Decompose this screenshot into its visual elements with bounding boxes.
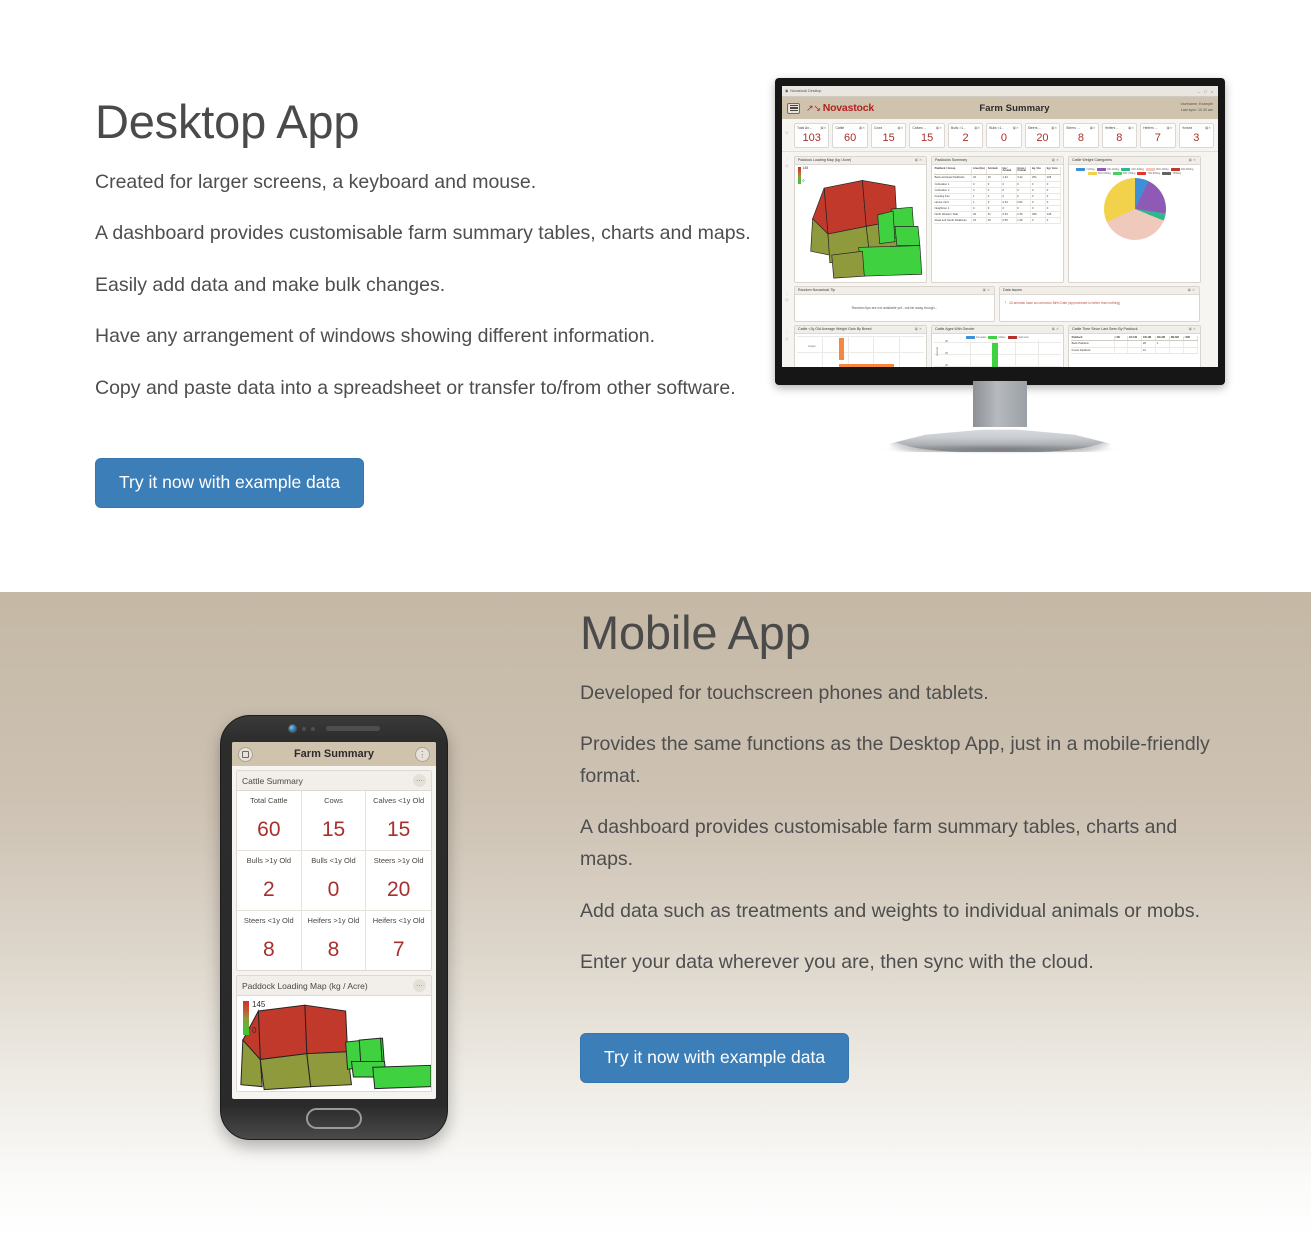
panel-controls-icon[interactable]: ▣✕: [983, 288, 991, 292]
panel-title: Random Novastock Tip: [798, 288, 835, 292]
tile-label: Steers ...: [1066, 126, 1080, 130]
tile-label: Heifers ...: [1143, 126, 1158, 130]
tile-value: 7: [1143, 130, 1172, 145]
summary-tile[interactable]: Total An...▣✕ 103: [794, 123, 829, 148]
brand-logo: ↗↘ Novastock: [806, 102, 874, 114]
legend-item: 400-500kg: [1171, 168, 1194, 171]
cell-value: 0: [304, 865, 364, 902]
summary-tile[interactable]: Heifers ...▣✕ 7: [1140, 123, 1175, 148]
panel-controls-icon[interactable]: ▣✕: [1189, 327, 1197, 331]
phone-top-hardware: [221, 724, 447, 733]
cell-value: 15: [368, 805, 429, 842]
panel-title: Paddock Loading Map (kg / Acre): [242, 981, 368, 991]
user-info: Username: Example Last sync: 10.30 am: [1155, 102, 1213, 114]
panel-title: Cattle <3y Old Average Weight Gain By Br…: [798, 327, 871, 331]
panel-controls-icon[interactable]: ▣✕: [1052, 327, 1060, 331]
legend-item: 700-800kg: [1137, 172, 1160, 175]
cell-value: 2: [239, 865, 299, 902]
dashboard-panels-row-1: ⋮◎ Paddock Loading Map (kg / Acre)▣✕ 145…: [782, 152, 1218, 286]
minimize-icon[interactable]: –: [1198, 89, 1200, 94]
panel-title: Cattle Time Since Last Seen By Paddock: [1072, 327, 1138, 331]
sensor-icon: [311, 727, 315, 731]
cell: 1.36: [1016, 218, 1031, 224]
paddocks-summary-table: Paddock / Group Area (Ha) Animals Ha / A…: [934, 167, 1061, 225]
map-body: 1450: [795, 165, 926, 282]
cattle-summary-panel[interactable]: Cattle Summary ⋯ Total Cattle60 Cows15 C…: [236, 770, 432, 971]
legend-label: Unknown: [1018, 336, 1029, 339]
app-header: ↗↘ Novastock Farm Summary Username: Exam…: [782, 97, 1218, 119]
tile-label: Heifers ...: [1105, 126, 1120, 130]
summary-cell[interactable]: Calves <1y Old15: [366, 791, 431, 851]
sensor-icon: [302, 727, 306, 731]
summary-tile[interactable]: Calves ...▣✕ 15: [909, 123, 944, 148]
summary-cell[interactable]: Heifers <1y Old7: [366, 911, 431, 970]
phone-screen: Farm Summary ⋮ Cattle Summary ⋯ Total Ca…: [232, 742, 436, 1099]
legend-item: 100-200kg: [1097, 168, 1120, 171]
front-camera-icon: [288, 724, 297, 733]
legend-item: Unknown: [1008, 336, 1029, 339]
map-gradient-scale: [243, 1001, 249, 1035]
legend-swatch: [1097, 168, 1106, 171]
tile-controls-icon[interactable]: ▣✕: [1204, 126, 1211, 130]
home-button[interactable]: [306, 1108, 362, 1129]
legend-swatch: [966, 336, 975, 339]
cell-label: Bulls <1y Old: [304, 856, 364, 865]
window-icon: ▣: [785, 89, 788, 93]
legend-label: 400-500kg: [1181, 168, 1194, 171]
y-tick: 25: [945, 352, 948, 355]
mobile-try-example-data-button[interactable]: Try it now with example data: [580, 1033, 849, 1084]
desktop-heading: Desktop App: [95, 96, 755, 149]
cell: 0: [1046, 218, 1061, 224]
cell-value: 20: [368, 865, 429, 902]
monitor-bezel: ▣ Novastock Desktop – □ × ↗↘ Novastock F…: [775, 78, 1225, 385]
tile-label: Cattle: [835, 126, 844, 130]
summary-tile[interactable]: Bulls >1...▣✕ 2: [948, 123, 983, 148]
panel-controls-icon[interactable]: ▣✕: [1188, 288, 1196, 292]
tile-controls-icon[interactable]: ▣✕: [1165, 126, 1172, 130]
legend-label: >800kg: [1172, 172, 1181, 175]
tile-value: 0: [989, 130, 1018, 145]
cell: [1128, 347, 1142, 353]
tile-label: Steers ...: [1028, 126, 1042, 130]
cell: 0.55: [1001, 218, 1016, 224]
legend-label: 500-600kg: [1098, 172, 1111, 175]
cell-value: 15: [304, 805, 364, 842]
tile-value: 3: [1182, 130, 1211, 145]
tile-controls-icon[interactable]: ▣✕: [1127, 126, 1134, 130]
dashboard-page-title: Farm Summary: [874, 103, 1155, 114]
map-legend: 1450: [243, 1001, 265, 1035]
legend-swatch: [1113, 172, 1122, 175]
close-icon[interactable]: ×: [1211, 89, 1213, 94]
tile-label: Bulls >1...: [951, 126, 966, 130]
cell-value: 7: [368, 925, 429, 962]
panel-controls-icon[interactable]: ▣✕: [915, 158, 923, 162]
cell: 40: [987, 218, 1002, 224]
cattle-summary-grid: Total Cattle60 Cows15 Calves <1y Old15 B…: [237, 791, 431, 970]
summary-cell[interactable]: Bulls >1y Old2: [237, 851, 302, 911]
panel-options-icon[interactable]: ⋯: [413, 774, 426, 787]
mobile-paragraph-3: A dashboard provides customisable farm s…: [580, 812, 1230, 875]
cell: [1170, 347, 1184, 353]
tile-controls-icon[interactable]: ▣✕: [819, 126, 826, 130]
cell: 0: [1031, 218, 1046, 224]
paddock-loading-map-panel[interactable]: Paddock Loading Map (kg / Acre)▣✕ 1450: [794, 156, 927, 283]
panel-title: Data Issues: [1003, 288, 1022, 292]
legend-item: 300-400kg: [1146, 168, 1169, 171]
grip-icon[interactable]: ⋮◎: [785, 330, 789, 342]
summary-cell[interactable]: Cows15: [302, 791, 367, 851]
desktop-app-section: Desktop App Created for larger screens, …: [0, 0, 1311, 592]
cell-label: Calves <1y Old: [368, 796, 429, 805]
tile-controls-icon[interactable]: ▣✕: [896, 126, 903, 130]
brand-mark-icon: ↗↘: [806, 103, 821, 114]
ages-chart: Females Males Unknown 30 25 20 Animals: [932, 334, 1063, 368]
map-legend-max: 145: [803, 167, 809, 170]
summary-cell[interactable]: Steers <1y Old8: [237, 911, 302, 970]
legend-item: 600-700kg: [1113, 172, 1136, 175]
legend-swatch: [1146, 168, 1155, 171]
paddocks-table-body: Paddock / Group Area (Ha) Animals Ha / A…: [932, 165, 1063, 282]
cell-label: Steers >1y Old: [368, 856, 429, 865]
legend-label: <100kg: [1086, 168, 1095, 171]
desktop-monitor-illustration: ▣ Novastock Desktop – □ × ↗↘ Novastock F…: [775, 78, 1225, 458]
summary-tile[interactable]: Bulls <1...▣✕ 0: [986, 123, 1021, 148]
legend-label: 300-400kg: [1156, 168, 1169, 171]
summary-tile[interactable]: Steers ...▣✕ 8: [1063, 123, 1098, 148]
tile-label: Horses: [1182, 126, 1193, 130]
paddock-loading-map-panel-mobile[interactable]: Paddock Loading Map (kg / Acre) ⋯ 1450: [236, 975, 432, 1092]
random-tip-panel[interactable]: Random Novastock Tip▣✕ Random tips are n…: [794, 286, 995, 322]
cell: [1114, 347, 1128, 353]
summary-tile[interactable]: Cows▣✕ 15: [871, 123, 906, 148]
map-legend-min: 0: [803, 180, 809, 183]
column-header: Area (Ha): [972, 167, 987, 175]
mobile-map-body: 1450: [237, 996, 431, 1091]
panel-title: Cattle Summary: [242, 776, 303, 786]
legend-item: Males: [988, 336, 1005, 339]
tile-controls-icon[interactable]: ▣✕: [858, 126, 865, 130]
summary-tile[interactable]: Cattle▣✕ 60: [832, 123, 867, 148]
panel-controls-icon[interactable]: ▣✕: [915, 327, 923, 331]
map-gradient-scale: [798, 167, 801, 184]
window-controls: – □ ×: [1198, 89, 1215, 94]
mobile-paragraph-2: Provides the same functions as the Deskt…: [580, 729, 1230, 792]
cattle-ages-with-gender-panel[interactable]: Cattle Ages With Gender▣✕ Females Males …: [931, 325, 1064, 368]
menu-icon[interactable]: [787, 103, 800, 114]
mobile-copy-block: Mobile App Developed for touchscreen pho…: [580, 607, 1230, 1083]
panel-title: Paddocks Summary: [935, 158, 967, 162]
paddocks-summary-panel[interactable]: Paddocks Summary▣✕ Paddock / Group Area …: [931, 156, 1064, 283]
table-row: Forest Paddock31: [1071, 347, 1198, 353]
brand-name: Novastock: [823, 102, 874, 114]
legend-item: >800kg: [1162, 172, 1181, 175]
legend-swatch: [1076, 168, 1085, 171]
column-header: Animals: [987, 167, 1002, 175]
cell-label: Bulls >1y Old: [239, 856, 299, 865]
cell-label: Heifers <1y Old: [368, 916, 429, 925]
mobile-heading: Mobile App: [580, 607, 1230, 660]
desktop-paragraph-3: Easily add data and make bulk changes.: [95, 270, 755, 302]
map-legend: 1450: [798, 167, 808, 184]
legend-swatch: [1008, 336, 1017, 339]
grip-icon[interactable]: ⋮◎: [785, 124, 789, 136]
legend-swatch: [1162, 172, 1171, 175]
tile-value: 15: [874, 130, 903, 145]
tile-label: Total An...: [797, 126, 812, 130]
tile-label: Cows: [874, 126, 882, 130]
summary-cell[interactable]: Heifers >1y Old8: [302, 911, 367, 970]
bar-brahman: [839, 364, 894, 368]
pie-legend: <100kg 100-200kg 200-300kg 300-400kg 400…: [1071, 167, 1198, 177]
legend-swatch: [988, 336, 997, 339]
cell-label: Steers <1y Old: [239, 916, 299, 925]
cell-value: 8: [239, 925, 299, 962]
cell: 31: [1142, 347, 1156, 353]
column-header: kg / Ha: [1031, 167, 1046, 175]
bar-category-label: Angus: [808, 345, 816, 348]
cell-label: Total Cattle: [239, 796, 299, 805]
column-header: Acres / Animal: [1016, 167, 1031, 175]
data-issue-item: 43 animals have an unknown Birth Date (a…: [1002, 297, 1197, 305]
panel-controls-icon[interactable]: ▣✕: [1052, 158, 1060, 162]
legend-swatch: [1088, 172, 1097, 175]
last-seen-table-body: Paddock <1D 1D-1W 1W-1M 1M-3M 3M-6M >6M: [1069, 334, 1200, 368]
tile-controls-icon[interactable]: ▣✕: [973, 126, 980, 130]
summary-tiles-row: ⋮◎ Total An...▣✕ 103 Cattle▣✕ 60 Cows▣✕ …: [782, 119, 1218, 152]
tile-value: 60: [835, 130, 864, 145]
map-legend-min: 0: [252, 1027, 265, 1035]
mobile-page-title: Farm Summary: [253, 748, 415, 760]
weight-gain-chart: Angus Brahman: [795, 334, 926, 368]
summary-tile[interactable]: Heifers ...▣✕ 8: [1102, 123, 1137, 148]
legend-swatch: [1137, 172, 1146, 175]
cell-label: Heifers >1y Old: [304, 916, 364, 925]
data-issues-panel[interactable]: Data Issues▣✕ 43 animals have an unknown…: [999, 286, 1200, 322]
column-header: Paddock / Group: [934, 167, 972, 175]
legend-label: 100-200kg: [1107, 168, 1120, 171]
mobile-menu-icon[interactable]: [238, 747, 253, 762]
legend-swatch: [1171, 168, 1180, 171]
tile-label: Bulls <1...: [989, 126, 1004, 130]
desktop-paragraph-5: Copy and paste data into a spreadsheet o…: [95, 373, 755, 405]
grip-icon[interactable]: ⋮◎: [785, 291, 789, 303]
legend-label: 200-300kg: [1131, 168, 1144, 171]
y-tick: 20: [945, 364, 948, 367]
summary-tile[interactable]: Horses▣✕ 3: [1179, 123, 1214, 148]
maximize-icon[interactable]: □: [1204, 89, 1206, 94]
desktop-paragraph-2: A dashboard provides customisable farm s…: [95, 218, 755, 250]
legend-label: 700-800kg: [1147, 172, 1160, 175]
tile-controls-icon[interactable]: ▣✕: [1012, 126, 1019, 130]
desktop-paragraph-1: Created for larger screens, a keyboard a…: [95, 167, 755, 199]
legend-swatch: [1121, 168, 1130, 171]
cell-label: Cows: [304, 796, 364, 805]
legend-item: <100kg: [1076, 168, 1095, 171]
window-title: Novastock Desktop: [790, 89, 821, 93]
pie-chart-body: <100kg 100-200kg 200-300kg 300-400kg 400…: [1069, 165, 1200, 282]
cell: Road and South Paddocks: [934, 218, 972, 224]
desktop-copy-block: Desktop App Created for larger screens, …: [95, 96, 755, 508]
bar-males: [992, 343, 998, 368]
legend-item: 200-300kg: [1121, 168, 1144, 171]
summary-cell[interactable]: Bulls <1y Old0: [302, 851, 367, 911]
desktop-try-example-data-button[interactable]: Try it now with example data: [95, 458, 364, 509]
column-header: Ha / Animal: [1001, 167, 1016, 175]
dashboard-panels-row-3: ⋮◎ Cattle <3y Old Average Weight Gain By…: [782, 325, 1218, 368]
column-header: kg / Acre: [1046, 167, 1061, 175]
tile-label: Calves ...: [912, 126, 926, 130]
paddock-map-svg: [797, 167, 924, 280]
desktop-paragraph-4: Have any arrangement of windows showing …: [95, 321, 755, 353]
last-sync-line: Last sync: 10.30 am: [1155, 108, 1213, 114]
cell-value: 8: [304, 925, 364, 962]
mobile-paragraph-4: Add data such as treatments and weights …: [580, 896, 1230, 928]
tip-text: Random tips are not available yet...not …: [797, 297, 992, 310]
dashboard-panels-row-2: ⋮◎ Random Novastock Tip▣✕ Random tips ar…: [782, 286, 1218, 325]
monitor-screen: ▣ Novastock Desktop – □ × ↗↘ Novastock F…: [782, 86, 1218, 367]
y-tick: 30: [945, 340, 948, 343]
monitor-neck: [973, 381, 1027, 427]
mobile-paddock-map-svg: [237, 996, 431, 1091]
monitor-base-shadow: [882, 444, 1118, 454]
cell: [1184, 347, 1198, 353]
tile-controls-icon[interactable]: ▣✕: [1089, 126, 1096, 130]
legend-label: Males: [998, 336, 1005, 339]
weight-pie-chart: [1104, 178, 1166, 240]
tile-value: 8: [1105, 130, 1134, 145]
summary-cell[interactable]: Total Cattle60: [237, 791, 302, 851]
weight-gain-by-breed-panel[interactable]: Cattle <3y Old Average Weight Gain By Br…: [794, 325, 927, 368]
cell: 23: [972, 218, 987, 224]
tile-value: 2: [951, 130, 980, 145]
legend-label: Females: [976, 336, 986, 339]
cell: Forest Paddock: [1071, 347, 1114, 353]
panel-title: Cattle Ages With Gender: [935, 327, 975, 331]
last-seen-table: Paddock <1D 1D-1W 1W-1M 1M-3M 3M-6M >6M: [1071, 336, 1198, 354]
mobile-app-header: Farm Summary ⋮: [232, 742, 436, 766]
legend-item: 500-600kg: [1088, 172, 1111, 175]
cell: [1156, 347, 1170, 353]
summary-cell[interactable]: Steers >1y Old20: [366, 851, 431, 911]
table-row: Road and South Paddocks23400.551.3600: [934, 218, 1061, 224]
bar-angus: [839, 338, 844, 360]
map-legend-max: 145: [252, 1001, 265, 1009]
panel-options-icon[interactable]: ⋯: [413, 979, 426, 992]
phone-illustration: Farm Summary ⋮ Cattle Summary ⋯ Total Ca…: [220, 715, 448, 1140]
panel-title: Paddock Loading Map (kg / Acre): [798, 158, 851, 162]
tile-controls-icon[interactable]: ▣✕: [1050, 126, 1057, 130]
tile-value: 8: [1066, 130, 1095, 145]
tile-value: 103: [797, 130, 826, 145]
app-window-titlebar: ▣ Novastock Desktop – □ ×: [782, 86, 1218, 97]
legend-label: 600-700kg: [1123, 172, 1136, 175]
mobile-paragraph-5: Enter your data wherever you are, then s…: [580, 947, 1230, 979]
mobile-app-section: Farm Summary ⋮ Cattle Summary ⋯ Total Ca…: [0, 592, 1311, 1239]
cattle-weight-categories-panel[interactable]: Cattle Weight Categories▣✕ <100kg 100-20…: [1068, 156, 1201, 283]
legend-item: Females: [966, 336, 986, 339]
panel-controls-icon[interactable]: ▣✕: [1189, 158, 1197, 162]
earpiece-speaker-icon: [326, 726, 380, 731]
time-since-last-seen-panel[interactable]: Cattle Time Since Last Seen By Paddock▣✕…: [1068, 325, 1201, 368]
mobile-paragraph-1: Developed for touchscreen phones and tab…: [580, 678, 1230, 710]
y-axis-label: Animals: [936, 346, 939, 355]
cell-value: 60: [239, 805, 299, 842]
grip-icon[interactable]: ⋮◎: [785, 157, 789, 169]
tile-value: 20: [1028, 130, 1057, 145]
summary-tile[interactable]: Steers ...▣✕ 20: [1025, 123, 1060, 148]
panel-title: Cattle Weight Categories: [1072, 158, 1112, 162]
tile-controls-icon[interactable]: ▣✕: [935, 126, 942, 130]
tile-value: 15: [912, 130, 941, 145]
mobile-options-icon[interactable]: ⋮: [415, 747, 430, 762]
table-header-row: Paddock / Group Area (Ha) Animals Ha / A…: [934, 167, 1061, 175]
